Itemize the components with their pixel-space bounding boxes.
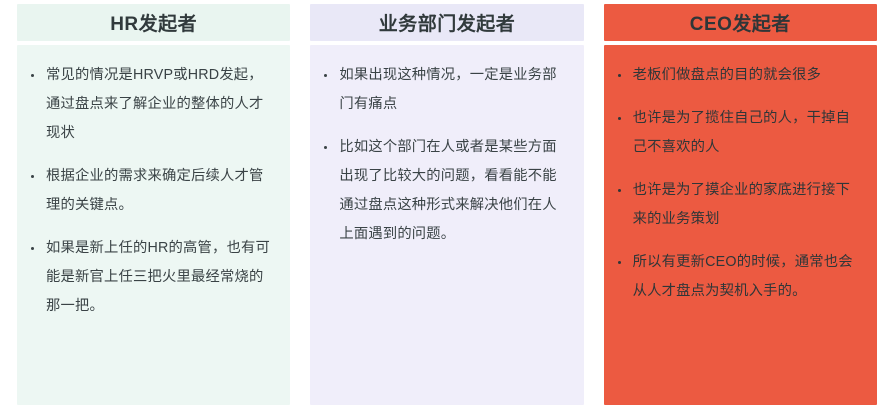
- list-item: 如果是新上任的HR的高管，也有可能是新官上任三把火里最经常烧的那一把。: [29, 234, 276, 321]
- list-item-text: 如果出现这种情况，一定是业务部门有痛点: [339, 67, 556, 112]
- list-item-text: 也许是为了揽住自己的人，干掉自己不喜欢的人: [633, 110, 850, 155]
- bullet-dot-icon: [618, 117, 621, 120]
- bullet-dot-icon: [324, 146, 327, 149]
- list-item: 所以有更新CEO的时候，通常也会从人才盘点为契机入手的。: [616, 248, 863, 306]
- bullet-dot-icon: [618, 261, 621, 264]
- column-body-business: 如果出现这种情况，一定是业务部门有痛点 比如这个部门在人或者是某些方面出现了比较…: [310, 45, 583, 405]
- list-item-text: 老板们做盘点的目的就会很多: [633, 67, 821, 83]
- bullet-dot-icon: [31, 74, 34, 77]
- list-item-text: 所以有更新CEO的时候，通常也会从人才盘点为契机入手的。: [633, 254, 853, 299]
- list-item: 如果出现这种情况，一定是业务部门有痛点: [322, 61, 569, 119]
- column-hr: HR发起者 常见的情况是HRVP或HRD发起，通过盘点来了解企业的整体的人才现状…: [17, 4, 290, 405]
- list-item-text: 根据企业的需求来确定后续人才管理的关键点。: [46, 168, 263, 213]
- list-item: 根据企业的需求来确定后续人才管理的关键点。: [29, 162, 276, 220]
- bullet-dot-icon: [324, 74, 327, 77]
- bullet-dot-icon: [31, 175, 34, 178]
- list-item: 也许是为了揽住自己的人，干掉自己不喜欢的人: [616, 104, 863, 162]
- column-body-hr: 常见的情况是HRVP或HRD发起，通过盘点来了解企业的整体的人才现状 根据企业的…: [17, 45, 290, 405]
- bullet-list-business: 如果出现这种情况，一定是业务部门有痛点 比如这个部门在人或者是某些方面出现了比较…: [322, 61, 569, 249]
- list-item-text: 如果是新上任的HR的高管，也有可能是新官上任三把火里最经常烧的那一把。: [46, 240, 270, 314]
- column-header-ceo: CEO发起者: [604, 4, 877, 41]
- bullet-dot-icon: [618, 189, 621, 192]
- comparison-board: HR发起者 常见的情况是HRVP或HRD发起，通过盘点来了解企业的整体的人才现状…: [0, 0, 892, 417]
- list-item-text: 也许是为了摸企业的家底进行接下来的业务策划: [633, 182, 850, 227]
- list-item: 老板们做盘点的目的就会很多: [616, 61, 863, 90]
- bullet-list-ceo: 老板们做盘点的目的就会很多 也许是为了揽住自己的人，干掉自己不喜欢的人 也许是为…: [616, 61, 863, 306]
- column-body-ceo: 老板们做盘点的目的就会很多 也许是为了揽住自己的人，干掉自己不喜欢的人 也许是为…: [604, 45, 877, 405]
- column-header-business: 业务部门发起者: [310, 4, 583, 41]
- list-item-text: 比如这个部门在人或者是某些方面出现了比较大的问题，看看能不能通过盘点这种形式来解…: [339, 139, 556, 242]
- column-ceo: CEO发起者 老板们做盘点的目的就会很多 也许是为了揽住自己的人，干掉自己不喜欢…: [604, 4, 877, 405]
- column-header-hr: HR发起者: [17, 4, 290, 41]
- bullet-dot-icon: [31, 247, 34, 250]
- bullet-dot-icon: [618, 74, 621, 77]
- list-item-text: 常见的情况是HRVP或HRD发起，通过盘点来了解企业的整体的人才现状: [46, 67, 263, 141]
- column-business: 业务部门发起者 如果出现这种情况，一定是业务部门有痛点 比如这个部门在人或者是某…: [310, 4, 583, 405]
- bullet-list-hr: 常见的情况是HRVP或HRD发起，通过盘点来了解企业的整体的人才现状 根据企业的…: [29, 61, 276, 321]
- list-item: 比如这个部门在人或者是某些方面出现了比较大的问题，看看能不能通过盘点这种形式来解…: [322, 133, 569, 249]
- list-item: 常见的情况是HRVP或HRD发起，通过盘点来了解企业的整体的人才现状: [29, 61, 276, 148]
- list-item: 也许是为了摸企业的家底进行接下来的业务策划: [616, 176, 863, 234]
